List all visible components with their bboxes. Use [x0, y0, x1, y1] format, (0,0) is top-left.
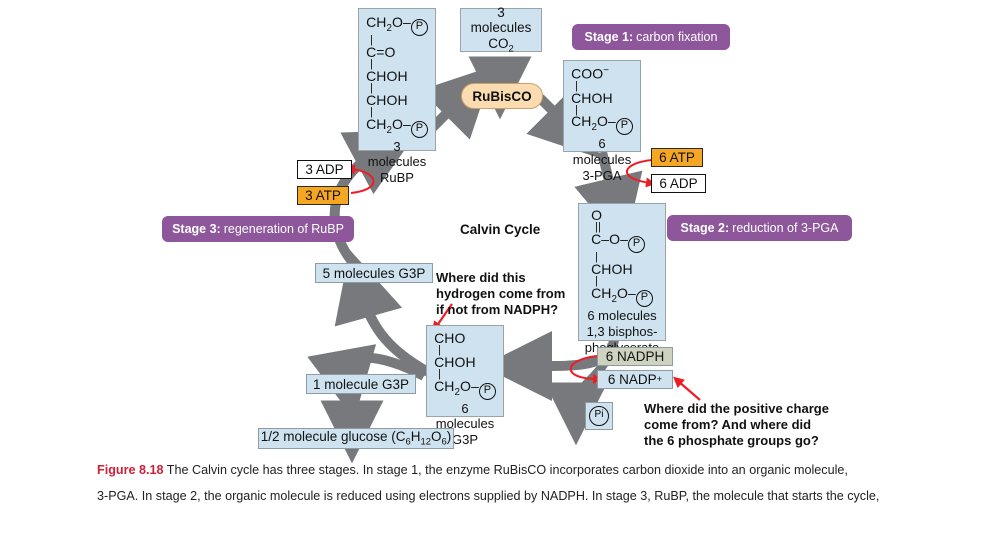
arrow-rubp-to-rubisco [432, 98, 462, 128]
stage-2-banner: Stage 2: reduction of 3-PGA [667, 215, 852, 241]
pga-box: COO−| CHOH| CH2O–P 6 molecules 3-PGA [563, 60, 641, 152]
stage-1-banner: Stage 1: carbon fixation [572, 24, 730, 50]
bpg-name-1: 1,3 bisphos- [584, 324, 660, 339]
pi-box: Pi [585, 402, 613, 430]
co2-formula: CO2 [488, 36, 514, 56]
rubp-count: 3 molecules [364, 139, 430, 169]
arrow-g3p-to-5g3p [362, 294, 428, 372]
rubp-box: CH2O–P| C=O| CHOH| CHOH| CH2O–P 3 molecu… [358, 8, 436, 151]
annotation-charge-question: Where did the positive charge come from?… [644, 401, 854, 449]
annotation-charge-line1: Where did the positive charge [644, 401, 829, 416]
g3p-1-box: 1 molecule G3P [306, 374, 416, 394]
pga-name: 3-PGA [569, 168, 635, 183]
nadp-6-label: 6 NADP [608, 372, 657, 387]
rubp-name: RuBP [364, 170, 430, 185]
g3p-count: 6 molecules [432, 401, 498, 431]
g3p-5-box: 5 molecules G3P [315, 263, 433, 283]
calvin-cycle-label: Calvin Cycle [460, 222, 540, 237]
adp-3-box: 3 ADP [297, 160, 352, 179]
figure-canvas: 3 molecules CO2 CH2O–P| C=O| CHOH| CHOH|… [0, 0, 985, 550]
atp-6-box: 6 ATP [651, 148, 703, 167]
adp-6-box: 6 ADP [651, 174, 706, 193]
figure-caption: Figure 8.18 The Calvin cycle has three s… [97, 458, 957, 510]
atp-3-box: 3 ATP [297, 186, 349, 205]
stage-2-text: reduction of 3-PGA [732, 221, 838, 235]
annotation-hydrogen-line2: hydrogen come from [436, 286, 565, 301]
caption-line-1: The Calvin cycle has three stages. In st… [164, 463, 848, 477]
stage-3-bold: Stage 3: [172, 222, 221, 236]
caption-figure-number: Figure 8.18 [97, 463, 164, 477]
rubisco-enzyme[interactable]: RuBisCO [461, 83, 543, 109]
g3p-box: CHO| CHOH| CH2O–P 6 molecules G3P [426, 325, 504, 417]
nadp-6-box: 6 NADP+ [597, 370, 673, 389]
g3p-structure: CHO| CHOH| CH2O–P [434, 331, 496, 400]
stage-1-bold: Stage 1: [585, 30, 634, 44]
annotation-charge-line2: come from? And where did [644, 417, 811, 432]
bpg-structure: O|| C–O–P| CHOH| CH2O–P [591, 208, 653, 307]
annotation-hydrogen-line3: if not from NADPH? [436, 302, 558, 317]
arrow-6nadph-to-6nadp [571, 356, 597, 379]
pga-structure: COO−| CHOH| CH2O–P [571, 66, 633, 135]
co2-count: 3 molecules [466, 5, 536, 36]
annotation-hydrogen-question: Where did this hydrogen come from if not… [436, 270, 586, 318]
co2-box: 3 molecules CO2 [460, 8, 542, 52]
pi-circle-icon: Pi [589, 406, 609, 426]
stage-3-banner: Stage 3: regeneration of RuBP [162, 216, 354, 242]
nadp-charge: + [657, 374, 663, 385]
bpg-box: O|| C–O–P| CHOH| CH2O–P 6 molecules 1,3 … [578, 203, 666, 341]
caption-line-2: 3-PGA. In stage 2, the organic molecule … [97, 489, 879, 503]
pga-count: 6 molecules [569, 136, 635, 166]
stage-2-bold: Stage 2: [681, 221, 730, 235]
glucose-box: 1/2 molecule glucose (C6H12O6) [258, 428, 454, 449]
nadph-6-box: 6 NADPH [597, 347, 673, 366]
bpg-count: 6 molecules [584, 308, 660, 323]
arrow-question-charge [678, 381, 700, 400]
annotation-charge-line3: the 6 phosphate groups go? [644, 433, 819, 448]
stage-3-text: regeneration of RuBP [224, 222, 344, 236]
glucose-label: 1/2 molecule glucose (C6H12O6) [261, 429, 452, 448]
stage-1-text: carbon fixation [636, 30, 717, 44]
annotation-hydrogen-line1: Where did this [436, 270, 526, 285]
rubp-structure: CH2O–P| C=O| CHOH| CHOH| CH2O–P [366, 15, 428, 138]
